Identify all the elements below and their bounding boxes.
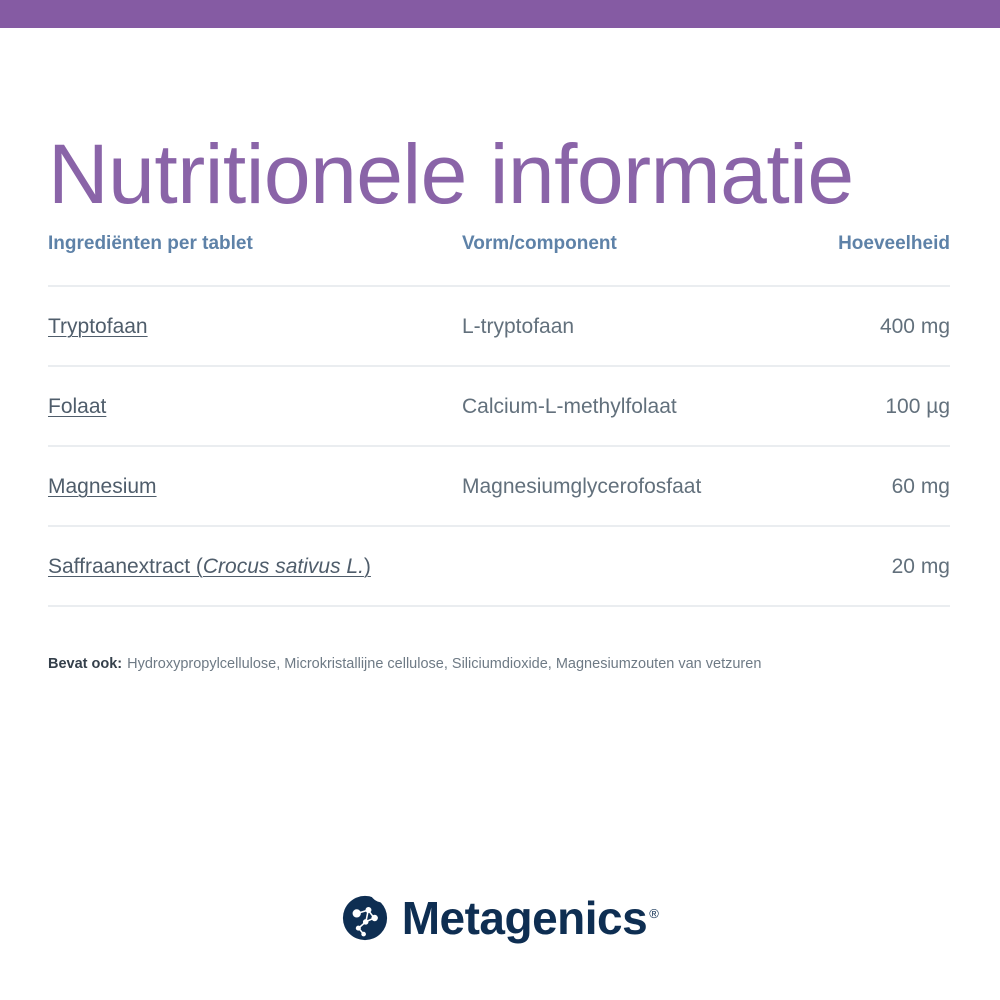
ingredient-link[interactable]: Saffraanextract (Crocus sativus L.) [48, 555, 371, 578]
table-row: Magnesium Magnesiumglycerofosfaat 60 mg [48, 446, 950, 526]
cell-form [462, 526, 792, 606]
cell-form: Calcium-L-methylfolaat [462, 366, 792, 446]
cell-ingredient: Tryptofaan [48, 286, 462, 366]
brand-wordmark: Metagenics® [402, 895, 659, 941]
table-row: Tryptofaan L-tryptofaan 400 mg [48, 286, 950, 366]
column-header-ingredient: Ingrediënten per tablet [48, 233, 462, 286]
ingredient-name: Magnesium [48, 475, 157, 498]
page-title: Nutritionele informatie [48, 126, 958, 222]
ingredient-link[interactable]: Folaat [48, 395, 106, 418]
cell-ingredient: Saffraanextract (Crocus sativus L.) [48, 526, 462, 606]
ingredient-link[interactable]: Tryptofaan [48, 315, 148, 338]
ingredient-name: Saffraanextract ( [48, 555, 203, 578]
table-row: Saffraanextract (Crocus sativus L.) 20 m… [48, 526, 950, 606]
ingredient-latin-name: Crocus sativus L. [203, 555, 364, 578]
cell-amount: 400 mg [792, 286, 950, 366]
ingredient-name: Tryptofaan [48, 315, 148, 338]
cell-amount: 100 µg [792, 366, 950, 446]
cell-amount: 20 mg [792, 526, 950, 606]
table-row: Folaat Calcium-L-methylfolaat 100 µg [48, 366, 950, 446]
registered-trademark-icon: ® [649, 906, 658, 921]
table-header: Ingrediënten per tablet Vorm/component H… [48, 233, 950, 286]
column-header-amount: Hoeveelheid [792, 233, 950, 286]
ingredient-name-suffix: ) [364, 555, 371, 578]
cell-ingredient: Magnesium [48, 446, 462, 526]
brand-name-text: Metagenics [402, 892, 648, 944]
table-header-row: Ingrediënten per tablet Vorm/component H… [48, 233, 950, 286]
contains-also-value: Hydroxypropylcellulose, Microkristallijn… [127, 656, 761, 672]
cell-form: L-tryptofaan [462, 286, 792, 366]
contains-also-note: Bevat ook:Hydroxypropylcellulose, Microk… [48, 653, 968, 675]
table-body: Tryptofaan L-tryptofaan 400 mg Folaat Ca… [48, 286, 950, 606]
ingredient-link[interactable]: Magnesium [48, 475, 157, 498]
cell-form: Magnesiumglycerofosfaat [462, 446, 792, 526]
cell-ingredient: Folaat [48, 366, 462, 446]
molecule-circle-icon [342, 895, 388, 941]
nutrition-table: Ingrediënten per tablet Vorm/component H… [48, 233, 950, 607]
page-content: Nutritionele informatie Ingrediënten per… [0, 28, 1000, 1000]
top-accent-bar [0, 0, 1000, 28]
cell-amount: 60 mg [792, 446, 950, 526]
contains-also-label: Bevat ook: [48, 656, 122, 672]
ingredient-name: Folaat [48, 395, 106, 418]
footer-brand-logo: Metagenics® [0, 883, 1000, 953]
column-header-form: Vorm/component [462, 233, 792, 286]
